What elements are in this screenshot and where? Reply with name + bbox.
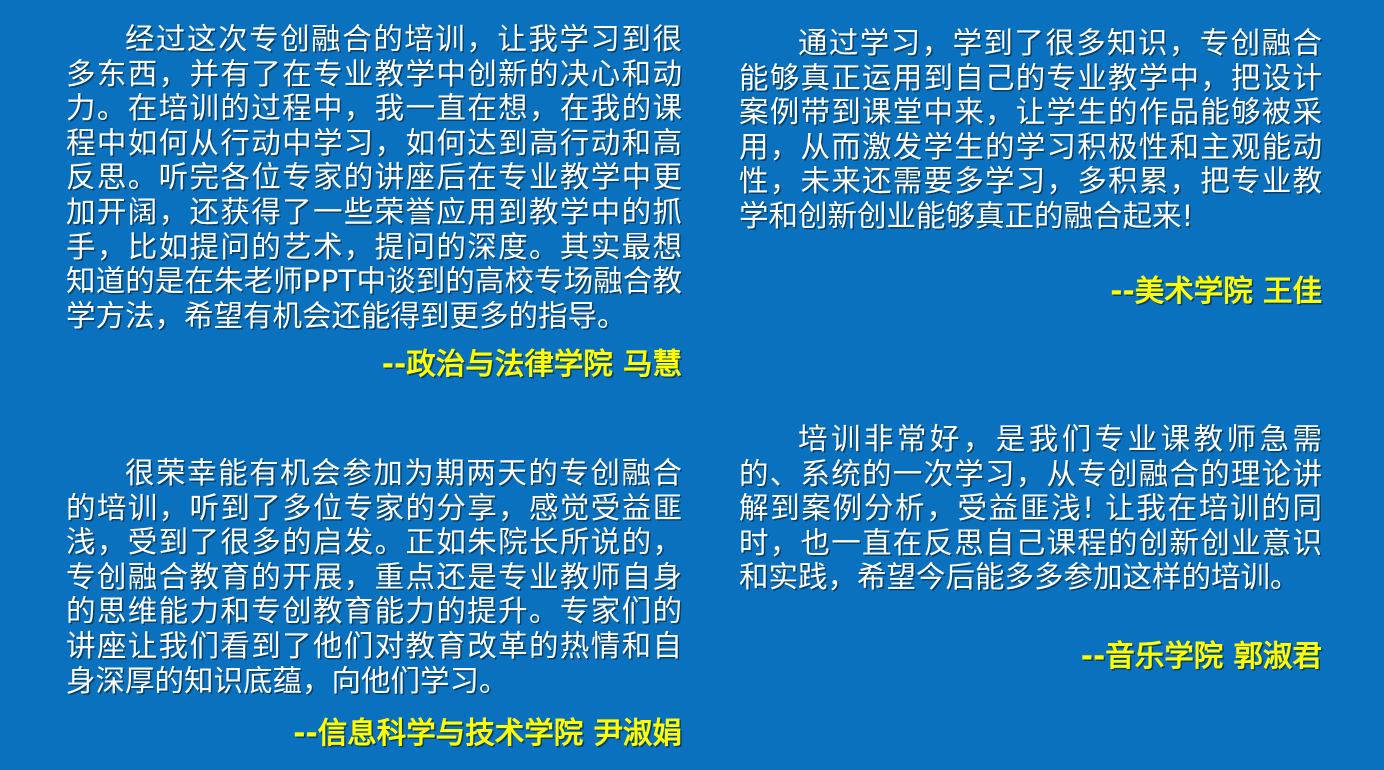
testimonial-card-bottom-right: 培训非常好，是我们专业课教师急需的、系统的一次学习，从专创融合的理论讲解到案例分… — [739, 422, 1322, 674]
testimonial-body: 培训非常好，是我们专业课教师急需的、系统的一次学习，从专创融合的理论讲解到案例分… — [739, 422, 1322, 595]
testimonial-attribution: --政治与法律学院 马慧 — [66, 347, 682, 382]
testimonial-body: 经过这次专创融合的培训，让我学习到很多东西，并有了在专业教学中创新的决心和动力。… — [66, 22, 682, 333]
testimonial-body: 通过学习，学到了很多知识，专创融合能够真正运用到自己的专业教学中，把设计案例带到… — [739, 26, 1322, 234]
testimonial-card-bottom-left: 很荣幸能有机会参加为期两天的专创融合的培训，听到了多位专家的分享，感觉受益匪浅，… — [66, 456, 682, 751]
slide-canvas: 经过这次专创融合的培训，让我学习到很多东西，并有了在专业教学中创新的决心和动力。… — [0, 0, 1384, 770]
testimonial-body: 很荣幸能有机会参加为期两天的专创融合的培训，听到了多位专家的分享，感觉受益匪浅，… — [66, 456, 682, 698]
testimonial-card-top-left: 经过这次专创融合的培训，让我学习到很多东西，并有了在专业教学中创新的决心和动力。… — [66, 22, 682, 382]
testimonial-attribution: --信息科学与技术学院 尹淑娟 — [66, 716, 682, 751]
testimonial-attribution: --美术学院 王佳 — [739, 274, 1322, 309]
testimonial-card-top-right: 通过学习，学到了很多知识，专创融合能够真正运用到自己的专业教学中，把设计案例带到… — [739, 26, 1322, 308]
testimonial-attribution: --音乐学院 郭淑君 — [739, 639, 1322, 674]
